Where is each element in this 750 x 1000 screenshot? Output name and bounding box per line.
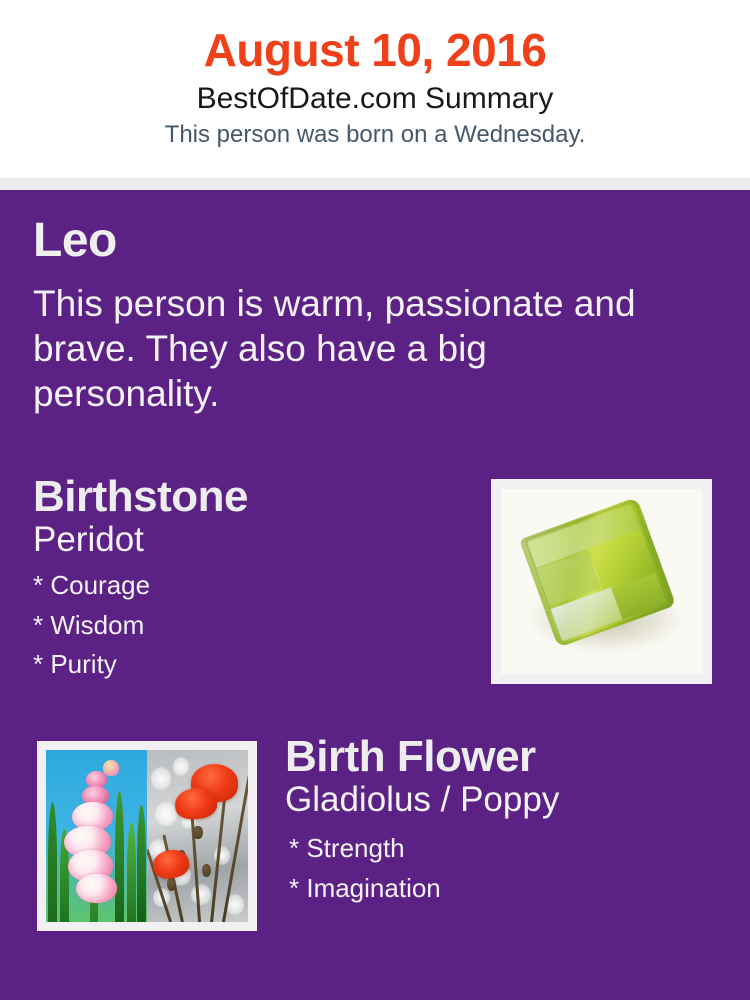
birthstone-name: Peridot	[33, 520, 473, 560]
birthstone-image-frame	[491, 479, 712, 684]
bokeh-light	[191, 884, 210, 905]
poppy-bud	[193, 826, 202, 840]
list-item: * Courage	[33, 566, 473, 606]
summary-panel: Leo This person is warm, passionate and …	[0, 190, 750, 1000]
birth-flower-heading: Birth Flower	[285, 735, 735, 780]
list-item: * Purity	[33, 645, 473, 685]
birthstone-trait-list: * Courage * Wisdom * Purity	[33, 559, 473, 685]
zodiac-section: Leo This person is warm, passionate and …	[33, 217, 713, 416]
birthstone-heading: Birthstone	[33, 475, 473, 520]
poppy-photo-half	[147, 750, 248, 922]
gladiolus-photo-half	[46, 750, 147, 922]
site-name-subtitle: BestOfDate.com Summary	[0, 76, 750, 117]
bokeh-light	[155, 802, 177, 826]
birth-flower-section: Birth Flower Gladiolus / Poppy * Strengt…	[285, 735, 735, 908]
zodiac-sign-title: Leo	[33, 217, 713, 265]
bokeh-light	[151, 767, 171, 789]
birthstone-section: Birthstone Peridot * Courage * Wisdom * …	[33, 475, 473, 685]
zodiac-description: This person is warm, passionate and brav…	[33, 265, 683, 416]
page-title-date: August 10, 2016	[0, 0, 750, 76]
weekday-statement: This person was born on a Wednesday.	[0, 116, 750, 149]
grass-blade	[115, 791, 124, 922]
header-divider	[0, 178, 750, 190]
grass-blade	[48, 802, 57, 922]
birth-flower-image-frame	[37, 741, 257, 931]
gladiolus-poppy-photo	[46, 750, 248, 922]
birth-flower-trait-list: * Strength * Imagination	[285, 819, 735, 908]
card-header: August 10, 2016 BestOfDate.com Summary T…	[0, 0, 750, 178]
peridot-gemstone-photo	[501, 489, 702, 674]
poppy-bud	[202, 864, 211, 878]
birth-flower-name: Gladiolus / Poppy	[285, 780, 735, 820]
gladiolus-bloom	[76, 874, 116, 903]
grass-blade	[137, 805, 146, 922]
bokeh-light	[173, 757, 189, 776]
list-item: * Imagination	[289, 869, 735, 909]
list-item: * Strength	[289, 829, 735, 869]
birthday-summary-card: August 10, 2016 BestOfDate.com Summary T…	[0, 0, 750, 1000]
grass-blade	[127, 822, 136, 922]
list-item: * Wisdom	[33, 606, 473, 646]
